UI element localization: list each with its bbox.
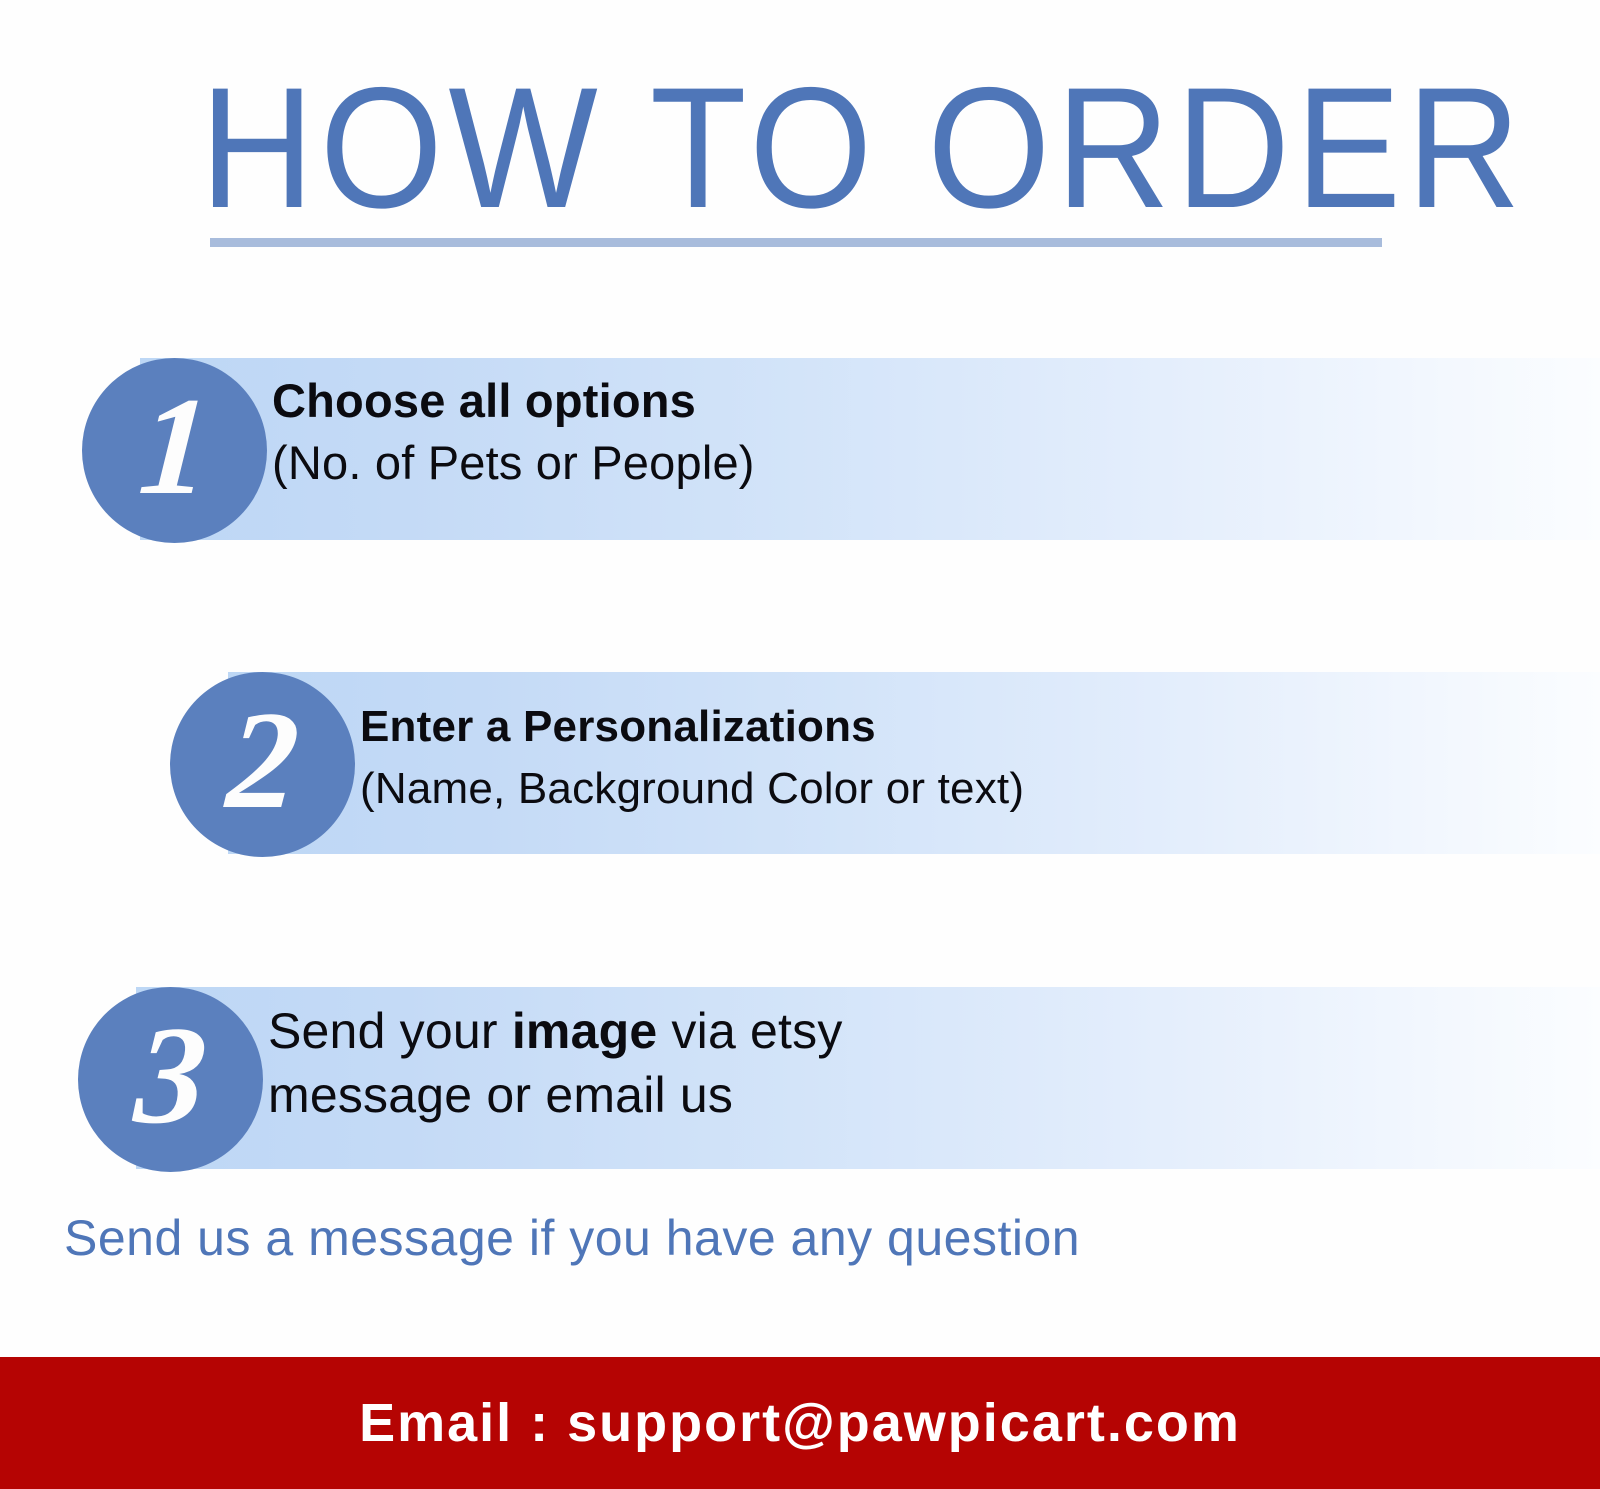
step-text-2: Enter a Personalizations (Name, Backgrou…: [360, 696, 1024, 820]
step-item-1: 1 Choose all options (No. of Pets or Peo…: [0, 358, 1600, 540]
footer-email-text[interactable]: Email : support@pawpicart.com: [359, 1393, 1241, 1453]
step-heading-3-emphasis: image: [512, 1003, 658, 1059]
step-item-3: 3 Send your image via etsy message or em…: [0, 987, 1600, 1169]
step-number-badge-1: 1: [82, 358, 267, 543]
step-item-2: 2 Enter a Personalizations (Name, Backgr…: [0, 672, 1600, 854]
step-number-2: 2: [223, 691, 303, 831]
title-underline-rule: [210, 238, 1382, 247]
closing-note: Send us a message if you have any questi…: [64, 1207, 1080, 1269]
step-heading-3: Send your image via etsy: [268, 999, 843, 1063]
step-text-1: Choose all options (No. of Pets or Peopl…: [272, 370, 755, 494]
infographic-page: HOW TO ORDER 1 Choose all options (No. o…: [0, 0, 1600, 1489]
step-subtext-1: (No. of Pets or People): [272, 432, 755, 494]
step-heading-2: Enter a Personalizations: [360, 696, 1024, 758]
step-number-1: 1: [135, 377, 215, 517]
step-heading-3-suffix: via etsy: [657, 1003, 842, 1059]
footer-bar: Email : support@pawpicart.com: [0, 1357, 1600, 1489]
step-subtext-2: (Name, Background Color or text): [360, 758, 1024, 820]
step-heading-1: Choose all options: [272, 370, 755, 432]
step-heading-3-prefix: Send your: [268, 1003, 512, 1059]
step-subtext-3: message or email us: [268, 1063, 843, 1127]
step-text-3: Send your image via etsy message or emai…: [268, 999, 843, 1127]
page-title: HOW TO ORDER: [200, 62, 1526, 234]
step-number-badge-2: 2: [170, 672, 355, 857]
step-number-3: 3: [131, 1006, 211, 1146]
step-number-badge-3: 3: [78, 987, 263, 1172]
